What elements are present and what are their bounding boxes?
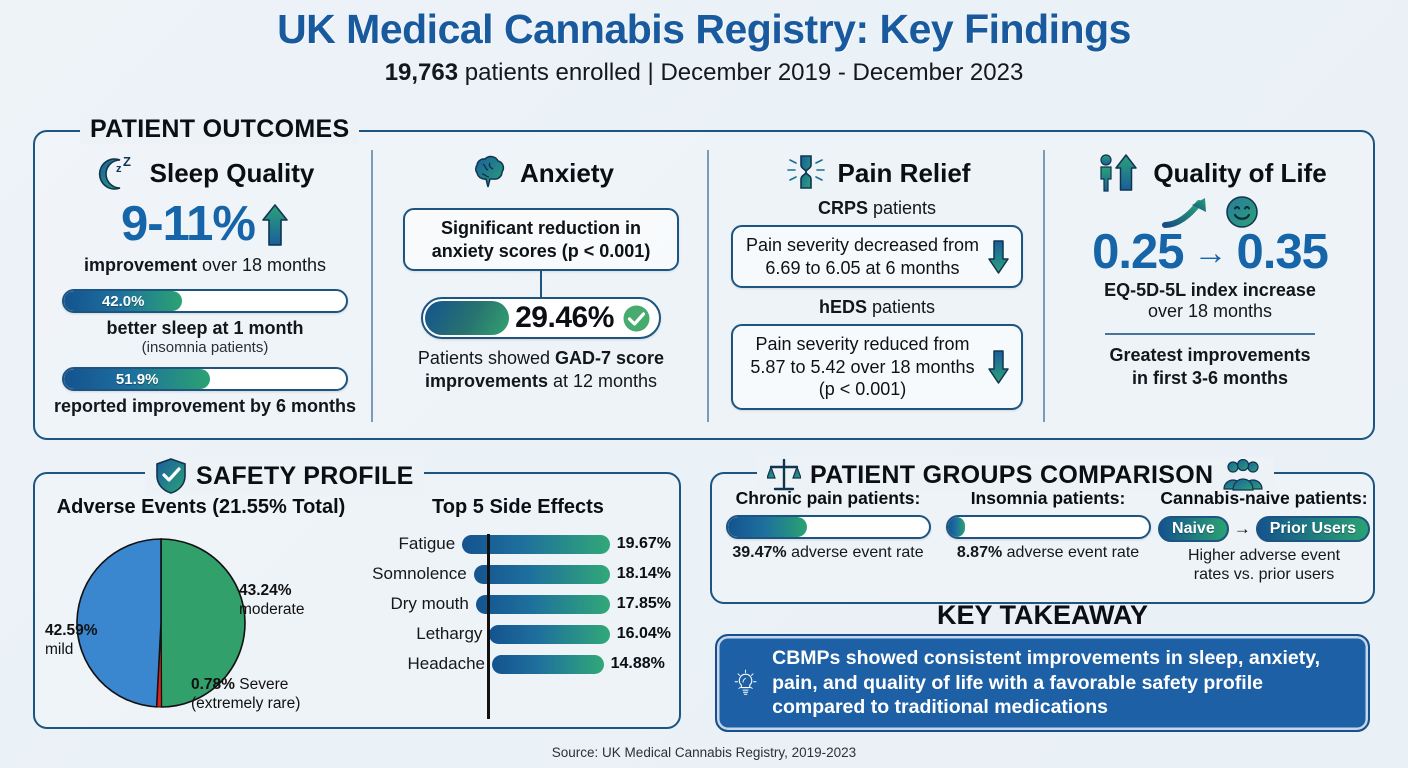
page-subtitle: 19,763 patients enrolled | December 2019… [0, 59, 1408, 87]
smiley-face-icon [1225, 195, 1259, 229]
pie-label-mild: 42.59% mild [45, 622, 98, 659]
qol-caption-line2: over 18 months [1047, 301, 1373, 322]
pain-relief-title: Pain Relief [838, 158, 971, 189]
side-effect-label: Lethargy [365, 624, 482, 644]
anxiety-caption-post: at 12 months [548, 371, 657, 391]
group-cannabis-naive-note-line2: rates vs. prior users [1194, 566, 1334, 583]
pie-severe-sub: (extremely rare) [191, 695, 300, 712]
patient-outcomes-legend: PATIENT OUTCOMES [80, 115, 359, 144]
side-effect-fill [476, 595, 610, 614]
group-cannabis-naive: Cannabis-naive patients: Naive → Prior U… [1158, 488, 1370, 585]
qol-to-value: 0.35 [1237, 228, 1328, 277]
panel-sleep-quality: z Z Sleep Quality 9-11% improvement over… [39, 150, 371, 417]
qol-footer: Greatest improvements in first 3-6 month… [1047, 344, 1373, 389]
side-effect-track [462, 535, 610, 554]
patient-groups-legend-text: PATIENT GROUPS COMPARISON [810, 461, 1213, 490]
group-chronic-pain: Chronic pain patients: 39.47% adverse ev… [720, 488, 936, 563]
pie-severe-pct: 0.78% [191, 676, 235, 693]
pie-label-moderate: 43.24% moderate [239, 582, 304, 619]
side-effect-row: Lethargy16.04% [365, 619, 671, 649]
side-effect-value: 14.88% [611, 655, 665, 673]
heds-label: hEDS patients [711, 297, 1043, 318]
sleep-big-stat: 9-11% [39, 200, 371, 249]
anxiety-note-box: Significant reduction in anxiety scores … [403, 208, 679, 271]
pie-mild-word: mild [45, 641, 73, 658]
group-chronic-pain-fill [728, 517, 807, 537]
pain-relief-heading: Pain Relief [711, 150, 1043, 196]
group-cannabis-naive-title: Cannabis-naive patients: [1158, 488, 1370, 509]
pill-prior-users[interactable]: Prior Users [1256, 516, 1370, 542]
group-insomnia: Insomnia patients: 8.87% adverse event r… [940, 488, 1156, 563]
crps-label-rest: patients [868, 198, 936, 218]
sleep-progress-bar-1[interactable]: 42.0% [62, 289, 348, 313]
qol-index-change: 0.25 → 0.35 [1047, 228, 1373, 277]
up-arrow-icon [261, 203, 289, 247]
side-effect-row: Fatigue19.67% [365, 529, 671, 559]
side-effects-rows: Fatigue19.67%Somnolence18.14%Dry mouth17… [365, 529, 671, 679]
sleep-bar-1-label: better sleep at 1 month [39, 318, 371, 339]
pie-label-severe: 0.78% Severe (extremely rare) [191, 676, 300, 713]
column-divider [1043, 150, 1045, 422]
enrolled-count: 19,763 [385, 59, 458, 86]
anxiety-caption-bold2: improvements [425, 371, 548, 391]
sleep-progress-bar-2[interactable]: 51.9% [62, 367, 348, 391]
sleep-quality-heading: z Z Sleep Quality [39, 150, 371, 196]
side-effect-value: 17.85% [617, 595, 671, 613]
person-up-arrow-icon [1093, 153, 1143, 193]
safety-profile-card: SAFETY PROFILE Adverse Events (21.55% To… [33, 472, 681, 729]
pie-severe-word: Severe [235, 676, 288, 693]
sleep-progress-fill-1: 42.0% [64, 291, 182, 311]
side-effect-row: Dry mouth17.85% [365, 589, 671, 619]
sleep-progress-value-1: 42.0% [102, 293, 145, 310]
heds-label-bold: hEDS [819, 297, 867, 317]
side-effect-value: 19.67% [617, 535, 671, 553]
side-effect-value: 16.04% [617, 625, 671, 643]
column-divider [707, 150, 709, 422]
pill-arrow-icon: → [1234, 519, 1251, 539]
shield-check-icon [155, 457, 187, 495]
svg-text:z: z [116, 163, 122, 175]
side-effect-fill [474, 565, 610, 584]
side-effect-label: Dry mouth [365, 594, 469, 614]
pie-moderate-word: moderate [239, 601, 304, 618]
group-chronic-pain-note: 39.47% adverse event rate [720, 544, 936, 563]
page-title: UK Medical Cannabis Registry: Key Findin… [0, 7, 1408, 52]
anxiety-pill-fill [425, 301, 509, 335]
adverse-events-title: Adverse Events (21.55% Total) [43, 496, 359, 519]
side-effects-title: Top 5 Side Effects [365, 496, 671, 519]
patient-groups-card: PATIENT GROUPS COMPARISON Chronic pain p… [710, 472, 1375, 604]
side-effect-track [476, 595, 610, 614]
sleep-caption-bold: improvement [84, 255, 197, 275]
crps-label-bold: CRPS [818, 198, 868, 218]
heds-label-rest: patients [867, 297, 935, 317]
safety-profile-legend-text: SAFETY PROFILE [196, 462, 414, 491]
patient-outcomes-card: PATIENT OUTCOMES z Z Sleep Quality 9-11% [33, 130, 1375, 440]
svg-text:Z: Z [123, 154, 131, 169]
group-cannabis-naive-note: Higher adverse event rates vs. prior use… [1158, 547, 1370, 585]
anxiety-connector-line [540, 271, 542, 297]
qol-divider [1105, 333, 1315, 335]
group-chronic-pain-title: Chronic pain patients: [720, 488, 936, 509]
check-circle-icon [622, 304, 651, 333]
source-note: Source: UK Medical Cannabis Registry, 20… [0, 745, 1408, 760]
group-cannabis-naive-note-line1: Higher adverse event [1188, 547, 1340, 564]
side-effect-fill [462, 535, 610, 554]
sleep-progress-fill-2: 51.9% [64, 369, 210, 389]
group-insomnia-title: Insomnia patients: [940, 488, 1156, 509]
sleep-bar-2-label: reported improvement by 6 months [39, 396, 371, 417]
adverse-events-chart: Adverse Events (21.55% Total) 43.24% mod… [43, 496, 359, 728]
lightbulb-icon [733, 648, 758, 718]
anxiety-pill-value: 29.46% [515, 301, 614, 335]
anxiety-caption-pre: Patients showed [418, 348, 555, 368]
group-insomnia-fill [948, 517, 966, 537]
panel-pain-relief: Pain Relief CRPS patients Pain severity … [711, 150, 1043, 410]
anxiety-caption-bold1: GAD-7 score [555, 348, 664, 368]
anxiety-title: Anxiety [520, 158, 614, 189]
side-effect-label: Headache [365, 654, 485, 674]
side-effect-label: Somnolence [365, 564, 467, 584]
quality-of-life-title: Quality of Life [1153, 158, 1326, 189]
subtitle-rest: patients enrolled | December 2019 - Dece… [458, 59, 1023, 86]
pie-mild-pct: 42.59% [45, 622, 98, 639]
side-effect-value: 18.14% [617, 565, 671, 583]
side-effect-row: Headache14.88% [365, 649, 671, 679]
key-takeaway-box: CBMPs showed consistent improvements in … [715, 634, 1370, 732]
pie-moderate-pct: 43.24% [239, 582, 292, 599]
side-effect-row: Somnolence18.14% [365, 559, 671, 589]
panel-anxiety: Anxiety Significant reduction in anxiety… [375, 150, 707, 392]
crps-label: CRPS patients [711, 198, 1043, 219]
sleep-caption: improvement over 18 months [39, 255, 371, 276]
quality-of-life-heading: Quality of Life [1047, 150, 1373, 196]
group-insomnia-bar[interactable] [946, 515, 1151, 539]
qol-footer-line2: in first 3-6 months [1132, 368, 1288, 388]
sleep-caption-rest: over 18 months [197, 255, 326, 275]
side-effect-fill [492, 655, 604, 674]
safety-profile-legend: SAFETY PROFILE [145, 457, 424, 495]
qol-footer-line1: Greatest improvements [1109, 345, 1310, 365]
qol-caption-line1: EQ-5D-5L index increase [1047, 280, 1373, 301]
crps-note-box: Pain severity decreased from 6.69 to 6.0… [731, 225, 1023, 288]
anxiety-caption: Patients showed GAD-7 score improvements… [375, 347, 707, 392]
qol-from-value: 0.25 [1092, 228, 1183, 277]
down-arrow-icon [987, 239, 1010, 275]
group-insomnia-note: 8.87% adverse event rate [940, 544, 1156, 563]
group-insomnia-rate: 8.87% [957, 544, 1002, 561]
panel-quality-of-life: Quality of Life 0.25 → 0.35 EQ-5D-5L i [1047, 150, 1373, 389]
side-effects-axis [487, 534, 490, 719]
moon-zzz-icon: z Z [96, 154, 140, 192]
side-effect-label: Fatigue [365, 534, 455, 554]
pill-naive[interactable]: Naive [1158, 516, 1229, 542]
anxiety-stat-pill[interactable]: 29.46% [421, 297, 661, 339]
brain-icon [468, 155, 510, 191]
sleep-quality-title: Sleep Quality [150, 158, 315, 189]
column-divider [371, 150, 373, 422]
side-effect-track [474, 565, 610, 584]
joint-pain-icon [784, 153, 828, 193]
key-takeaway-legend: KEY TAKEAWAY [710, 600, 1375, 631]
sleep-bar-1-sublabel: (insomnia patients) [39, 339, 371, 356]
key-takeaway-text: CBMPs showed consistent improvements in … [772, 646, 1352, 720]
qol-arrow-glyph: → [1194, 236, 1227, 270]
side-effects-chart: Top 5 Side Effects Fatigue19.67%Somnolen… [365, 496, 671, 679]
side-effect-fill [489, 625, 609, 644]
heds-note-text: Pain severity reduced from 5.87 to 5.42 … [744, 333, 981, 401]
group-insomnia-rate-label: adverse event rate [1002, 544, 1139, 561]
sleep-stat-value: 9-11% [121, 200, 255, 249]
heds-note-box: Pain severity reduced from 5.87 to 5.42 … [731, 324, 1023, 410]
down-arrow-icon [987, 349, 1010, 385]
sleep-progress-value-2: 51.9% [116, 371, 159, 388]
crps-note-text: Pain severity decreased from 6.69 to 6.0… [744, 234, 981, 279]
group-chronic-pain-bar[interactable] [726, 515, 931, 539]
side-effect-track [489, 625, 609, 644]
header: UK Medical Cannabis Registry: Key Findin… [0, 0, 1408, 87]
group-chronic-pain-rate: 39.47% [732, 544, 786, 561]
anxiety-heading: Anxiety [375, 150, 707, 196]
side-effect-track [492, 655, 604, 674]
people-group-icon [1222, 459, 1264, 491]
group-chronic-pain-rate-label: adverse event rate [787, 544, 924, 561]
